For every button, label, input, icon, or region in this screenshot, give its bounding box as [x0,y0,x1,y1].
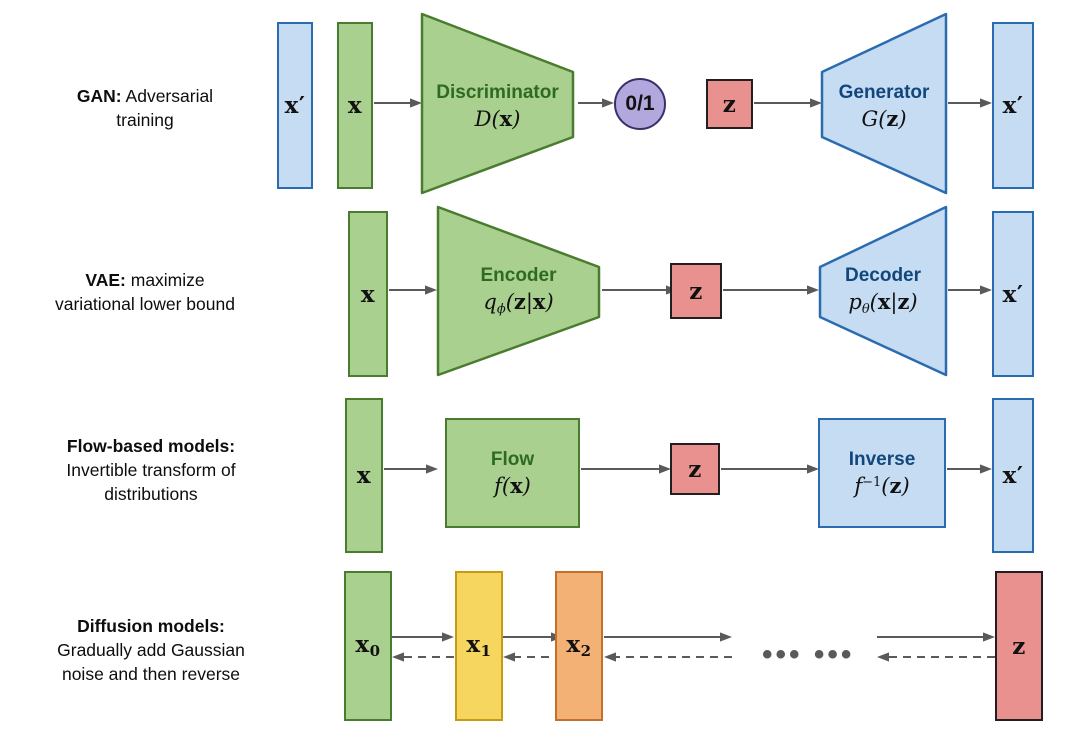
vae-arrow-x-to-encoder [389,283,437,297]
row-label-flow-lead: Flow-based models: [67,436,235,456]
row-label-flow-line2: Invertible transform of [66,460,235,480]
gan-z-box: z [706,79,753,129]
row-label-diffusion-line2: Gradually add Gaussian [57,640,245,660]
row-label-diffusion-lead: Diffusion models: [77,616,225,636]
diffusion-arrow-x2-to-x1-reverse [503,650,563,664]
diffusion-arrow-x0-to-x1-forward [392,630,454,644]
row-label-vae: VAE: maximize variational lower bound [10,268,280,316]
gan-xprime-left-box: x′ [277,22,313,189]
flow-box: Flow f(x) [445,418,580,528]
inverse-title: Inverse [849,449,916,471]
diffusion-arrow-x1-to-x2-forward [503,630,563,644]
diffusion-arrow-x1-to-x0-reverse [392,650,454,664]
gan-generator-shape: Generator G(z) [820,12,948,195]
flow-z-box: z [670,443,720,495]
flow-arrow-z-to-inverse [721,462,819,476]
vae-arrow-encoder-to-z [602,283,678,297]
flow-z-label: z [688,456,702,483]
gan-arrow-discriminator-to-decision [578,96,614,110]
gan-xprime-right-box: x′ [992,22,1034,189]
flow-arrow-inverse-to-xprime [947,462,992,476]
diffusion-x1-box: x1 [455,571,503,721]
diffusion-x2-box: x2 [555,571,603,721]
gan-discriminator-shape: Discriminator D(x) [420,12,575,195]
flow-xprime-right-label: x′ [1003,462,1024,489]
vae-x-input-box: x [348,211,388,377]
row-label-diffusion-line3: noise and then reverse [62,664,240,684]
vae-arrow-z-to-decoder [723,283,819,297]
row-label-gan-line2: training [116,110,173,130]
diffusion-arrow-ellipsis-reverse-to-x2 [604,650,732,664]
gan-x-input-label: x [348,92,362,119]
row-label-vae-rest: maximize [126,270,205,290]
vae-arrow-decoder-to-xprime [948,283,992,297]
flow-arrow-flow-to-z [581,462,671,476]
diffusion-ellipsis: ••• ••• [762,640,854,670]
vae-xprime-right-box: x′ [992,211,1034,377]
diffusion-x2-label: x2 [566,631,591,660]
gan-xprime-right-label: x′ [1003,92,1024,119]
diffusion-z-box: z [995,571,1043,721]
gan-decision-label: 0/1 [625,92,654,116]
vae-x-input-label: x [361,281,375,308]
flow-title: Flow [491,449,534,471]
diffusion-arrow-ellipsis-forward-to-z [877,630,995,644]
gan-arrow-z-to-generator [754,96,822,110]
row-label-diffusion: Diffusion models: Gradually add Gaussian… [16,614,286,686]
vae-z-label: z [689,278,703,305]
vae-xprime-right-label: x′ [1003,281,1024,308]
inverse-box: Inverse f−1(z) [818,418,946,528]
vae-decoder-shape: Decoder pθ(x|z) [818,205,948,377]
diffusion-x0-box: x0 [344,571,392,721]
diffusion-z-label: z [1012,633,1026,660]
flow-arrow-x-to-flow [384,462,438,476]
row-label-gan-rest: Adversarial [122,86,213,106]
diffusion-arrow-x2-forward-to-ellipsis [604,630,732,644]
row-label-gan-lead: GAN: [77,86,122,106]
diffusion-x1-label: x1 [466,631,491,660]
row-label-vae-line2: variational lower bound [55,294,235,314]
gan-arrow-generator-to-xprime [948,96,992,110]
gan-arrow-x-to-discriminator [374,96,422,110]
vae-z-box: z [670,263,722,319]
row-label-vae-lead: VAE: [85,270,126,290]
gan-z-label: z [723,91,737,118]
row-label-gan: GAN: Adversarial training [20,84,270,132]
gan-xprime-left-label: x′ [285,92,306,119]
flow-x-input-label: x [357,462,371,489]
flow-xprime-right-box: x′ [992,398,1034,553]
row-label-flow: Flow-based models: Invertible transform … [16,434,286,506]
vae-encoder-shape: Encoder qϕ(z|x) [436,205,601,377]
flow-formula: f(x) [494,473,531,498]
flow-x-input-box: x [345,398,383,553]
figure-canvas: GAN: Adversarial training x′ x Discrimin… [0,0,1080,747]
diffusion-x0-label: x0 [355,631,380,660]
gan-x-input-box: x [337,22,373,189]
inverse-formula: f−1(z) [854,473,909,498]
diffusion-arrow-z-reverse-to-ellipsis [877,650,995,664]
row-label-flow-line3: distributions [104,484,197,504]
gan-decision-circle: 0/1 [614,78,666,130]
